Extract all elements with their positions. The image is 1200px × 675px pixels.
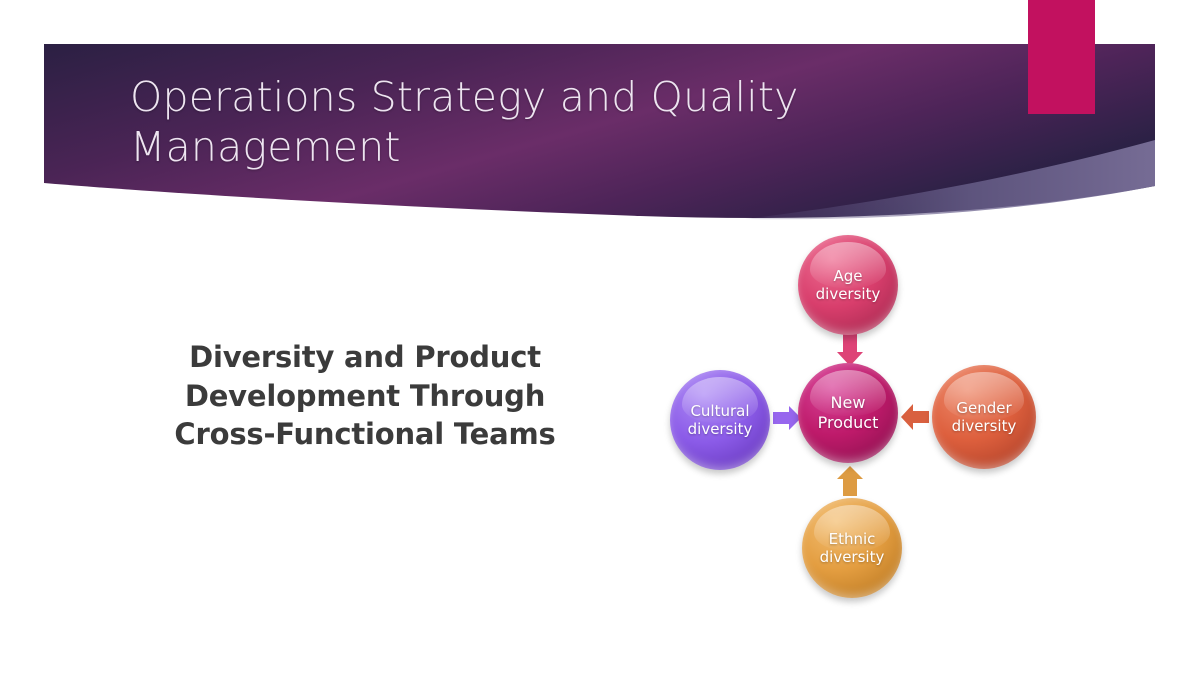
diagram-node-gender-label: Gender diversity (952, 399, 1017, 436)
diagram-node-ethnic-label: Ethnic diversity (820, 530, 885, 567)
arrow-right-shape (901, 404, 929, 430)
title-block: Operations Strategy and Quality Manageme… (130, 72, 890, 172)
presentation-slide: Operations Strategy and Quality Manageme… (0, 0, 1200, 675)
page-title: Operations Strategy and Quality Manageme… (130, 72, 890, 172)
arrow-left-icon (900, 403, 930, 431)
arrow-left-shape (773, 406, 801, 430)
body-heading: Diversity and Product Development Throug… (115, 338, 615, 454)
diagram-node-age-label: Age diversity (816, 267, 881, 304)
diagram-node-new-product-label: New Product (818, 393, 879, 432)
diagram-node-new-product[interactable]: New Product (798, 363, 898, 463)
diagram-node-gender[interactable]: Gender diversity (932, 365, 1036, 469)
arrow-top-shape (837, 334, 863, 366)
diversity-hub-diagram: Age diversity Cultural diversity Gender … (650, 225, 1070, 625)
diagram-node-cultural-label: Cultural diversity (688, 402, 753, 439)
arrow-up-icon (836, 465, 864, 497)
arrow-down-icon (836, 333, 864, 367)
diagram-node-ethnic[interactable]: Ethnic diversity (802, 498, 902, 598)
diagram-node-age[interactable]: Age diversity (798, 235, 898, 335)
accent-bar (1028, 0, 1095, 114)
arrow-bottom-shape (837, 466, 863, 496)
diagram-node-cultural[interactable]: Cultural diversity (670, 370, 770, 470)
